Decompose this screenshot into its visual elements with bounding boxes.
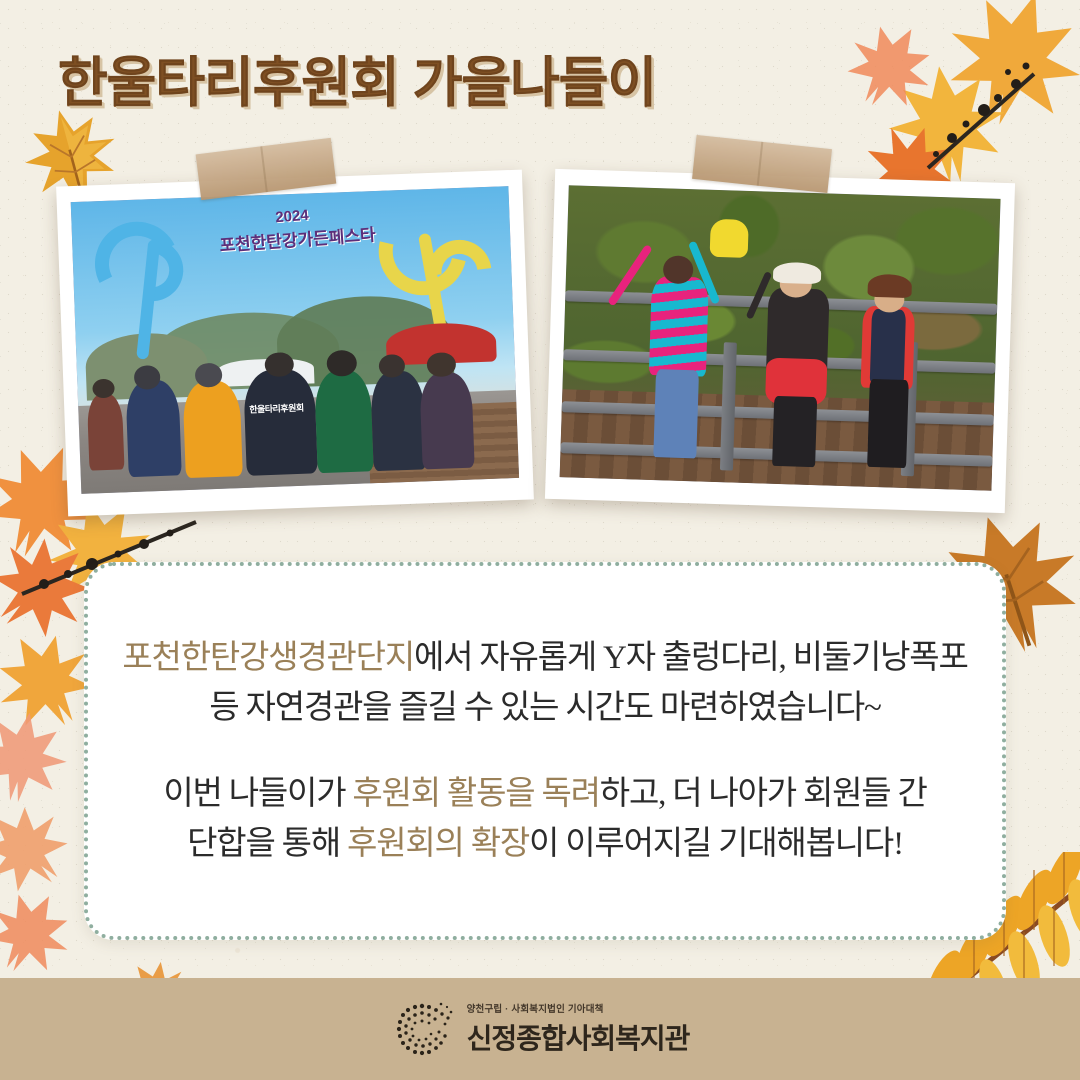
organization-name-block: 양천구립 · 사회복지법인 기아대책 신정종합사회복지관: [467, 1001, 690, 1057]
person-green: [314, 369, 375, 473]
title-block: 한울타리후원회 가을나들이: [58, 55, 656, 112]
paragraph-2-line2-post: 이 이루어지길 기대해봅니다!: [529, 826, 903, 862]
highlight-location: 포천한탄강생경관단지: [122, 640, 414, 676]
paragraph-2: 이번 나들이가 후원회 활동을 독려하고, 더 나아가 회원들 간 단합을 통해…: [163, 769, 926, 869]
sign-year: 2024: [275, 207, 310, 226]
highlight-expansion: 후원회의 확장: [347, 826, 529, 862]
page-title: 한울타리후원회 가을나들이: [58, 55, 656, 112]
curly-hair: [868, 274, 912, 299]
head-2: [195, 363, 222, 387]
person-far-right: [419, 372, 475, 470]
vest-label: 한울타리후원회: [249, 401, 304, 416]
paragraph-2-line1-post: 하고, 더 나아가 회원들 간: [600, 776, 927, 812]
paragraph-1-line2: 등 자연경관을 즐길 수 있는 시간도 마련하였습니다~: [209, 690, 880, 726]
photo-image-bridge: [560, 185, 1001, 490]
maple-leaf-icon-tr-3: [826, 1, 956, 131]
person-yellow: [182, 380, 242, 478]
person-vest-main: [243, 369, 317, 477]
organization-subtitle: 양천구립 · 사회복지법인 기아대책: [467, 1001, 690, 1015]
branch-ink-top-right: [866, 50, 1036, 200]
person-blue: [125, 379, 181, 477]
footer-bar: 양천구립 · 사회복지법인 기아대책 신정종합사회복지관: [0, 978, 1080, 1080]
jeans-striped: [653, 369, 699, 458]
body-text-card: 포천한탄강생경관단지에서 자유롭게 Y자 출렁다리, 비둘기낭폭포 등 자연경관…: [84, 562, 1006, 940]
photo-frame-right: [545, 169, 1015, 513]
paragraph-1: 포천한탄강생경관단지에서 자유롭게 Y자 출렁다리, 비둘기낭폭포 등 자연경관…: [122, 633, 967, 733]
paragraph-1-line1-rest: 에서 자유롭게 Y자 출렁다리, 비둘기낭폭포: [414, 640, 968, 676]
organization-logo-icon: [391, 998, 453, 1060]
paragraph-2-line2-pre: 단합을 통해: [187, 826, 347, 862]
maple-leaf-icon-left-6: [0, 780, 92, 916]
maple-leaf-icon-left-7: [0, 870, 92, 994]
highlight-activity: 후원회 활동을 독려: [352, 776, 599, 812]
person-far-left: [86, 393, 124, 470]
paragraph-2-line1-pre: 이번 나들이가: [163, 776, 352, 812]
maple-leaf-icon-left-5: [0, 698, 80, 814]
organization-title: 신정종합사회복지관: [467, 1017, 690, 1057]
pants-visor-person: [867, 379, 909, 468]
poster-root: 한울타리후원회 가을나들이: [0, 0, 1080, 1080]
yellow-jacket-held: [709, 219, 749, 258]
pants-hat-person: [772, 396, 817, 467]
maple-leaf-icon-tr-1: [920, 0, 1080, 152]
bucket-hat-icon: [773, 262, 821, 284]
photo-image-festival: 2024 포천한탄강가든페스타 한울타리후원회: [71, 186, 519, 494]
maple-leaf-icon-tr-2: [874, 50, 1021, 197]
vest-navy: [869, 309, 906, 383]
photo-frame-left: 2024 포천한탄강가든페스타 한울타리후원회: [56, 170, 534, 517]
person-striped: [649, 276, 708, 377]
person-dark-right: [371, 370, 427, 471]
